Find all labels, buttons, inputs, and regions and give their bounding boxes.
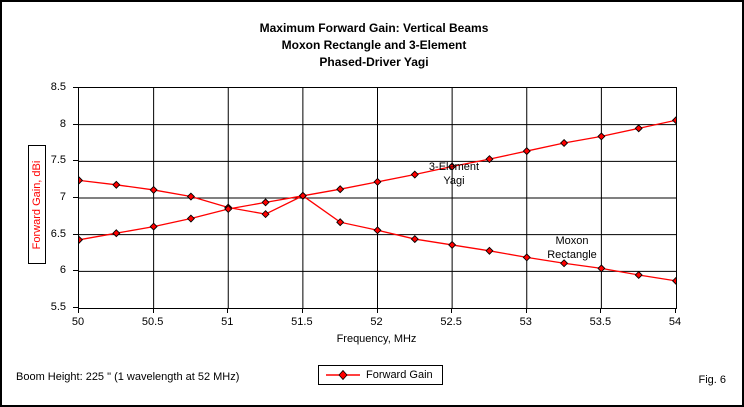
x-tick-mark: [227, 308, 228, 313]
legend-marker-icon: [326, 369, 360, 381]
x-tick-label: 54: [645, 316, 705, 328]
x-axis-title: Frequency, MHz: [78, 333, 675, 345]
y-tick-label: 7.5: [6, 154, 66, 166]
y-tick-mark: [73, 124, 78, 125]
annotation-yagi-line-1: 3-Element: [429, 161, 479, 173]
x-tick-mark: [377, 308, 378, 313]
annotation-yagi-line-2: Yagi: [443, 175, 464, 187]
chart-title-line-2: Moxon Rectangle and 3-Element: [2, 37, 744, 54]
x-tick-label: 53.5: [570, 316, 630, 328]
x-tick-label: 52: [347, 316, 407, 328]
annotation-yagi: 3-Element Yagi: [419, 160, 489, 188]
x-tick-label: 50: [48, 316, 108, 328]
chart-title-line-1: Maximum Forward Gain: Vertical Beams: [2, 20, 744, 37]
y-tick-mark: [73, 87, 78, 88]
x-tick-label: 52.5: [421, 316, 481, 328]
plot-area: [78, 87, 677, 309]
figure-number: Fig. 6: [698, 374, 726, 386]
gridlines: [79, 88, 676, 308]
x-tick-label: 53: [496, 316, 556, 328]
x-tick-mark: [78, 308, 79, 313]
y-tick-label: 6.5: [6, 228, 66, 240]
figure-container: Maximum Forward Gain: Vertical Beams Mox…: [0, 0, 744, 407]
x-tick-mark: [451, 308, 452, 313]
x-tick-label: 51.5: [272, 316, 332, 328]
x-tick-mark: [153, 308, 154, 313]
y-tick-mark: [73, 160, 78, 161]
x-tick-mark: [600, 308, 601, 313]
plot-wrapper: [78, 87, 675, 307]
chart-title: Maximum Forward Gain: Vertical Beams Mox…: [2, 20, 744, 71]
x-tick-mark: [526, 308, 527, 313]
legend-label: Forward Gain: [366, 369, 433, 381]
y-tick-label: 7: [6, 191, 66, 203]
y-tick-label: 8: [6, 118, 66, 130]
y-tick-label: 6: [6, 264, 66, 276]
annotation-moxon: Moxon Rectangle: [529, 234, 615, 262]
y-tick-mark: [73, 197, 78, 198]
y-tick-label: 8.5: [6, 81, 66, 93]
footnote-text: Boom Height: 225 " (1 wavelength at 52 M…: [16, 371, 239, 383]
x-tick-mark: [675, 308, 676, 313]
x-tick-label: 50.5: [123, 316, 183, 328]
chart-title-line-3: Phased-Driver Yagi: [2, 54, 744, 71]
legend: Forward Gain: [318, 365, 443, 385]
y-tick-mark: [73, 234, 78, 235]
x-tick-mark: [302, 308, 303, 313]
y-tick-label: 5.5: [6, 301, 66, 313]
x-tick-label: 51: [197, 316, 257, 328]
annotation-moxon-line-2: Rectangle: [547, 249, 597, 261]
y-tick-mark: [73, 270, 78, 271]
annotation-moxon-line-1: Moxon: [555, 235, 588, 247]
